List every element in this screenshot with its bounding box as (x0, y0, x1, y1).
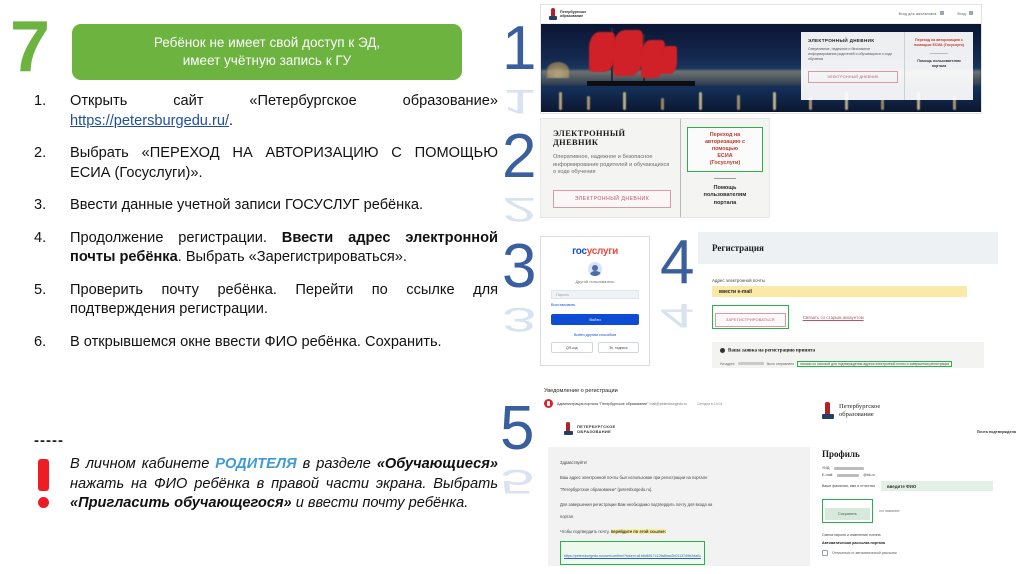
profile-email-domain: @bk.ru (863, 473, 875, 477)
login-button[interactable]: Войти (551, 314, 639, 325)
screenshot-registration: Регистрация Адрес электронной почты ввес… (698, 232, 998, 368)
gosuslugi-logo-b: услуги (587, 246, 618, 257)
title-line-2: имеет учётную запись к ГУ (154, 52, 380, 70)
logo-line-1: Петербургское (560, 10, 586, 14)
profile-email-row: E-mail:@bk.ru (822, 473, 1024, 477)
hero-banner-scarlet-sails: ЭЛЕКТРОННЫЙ ДНЕВНИК Оперативное, надежно… (541, 24, 981, 112)
email-line-3: Для завершения регистрации Вам необходим… (560, 502, 810, 508)
step-marker-6: 6. (28, 333, 70, 353)
step-text-6: В открывшемся окне ввести ФИО ребёнка. С… (70, 333, 498, 353)
screenshot-ed-block-zoom: ЭЛЕКТРОННЫЙ ДНЕВНИК Оперативное, надежно… (540, 118, 770, 218)
email-highlight: перейдите по этой ссылке: (611, 529, 666, 534)
esia-line-5: (Госуслуги) (710, 160, 740, 166)
mail-sender-row: Администрация портала "Петербургское обр… (544, 399, 830, 408)
mail-confirmed-label: Почта подтверждена (977, 430, 1016, 434)
step-marker-3: 3. (28, 196, 70, 216)
list-item: 4. Продолжение регистрации. Ввести адрес… (28, 229, 498, 268)
hero-ed-button[interactable]: ЭЛЕКТРОННЫЙ ДНЕВНИК (808, 71, 898, 83)
warning-bold-students: «Обучающиеся» (377, 456, 498, 472)
list-item: 6. В открывшемся окне ввести ФИО ребёнка… (28, 333, 498, 353)
step-4-part1: Продолжение регистрации. (70, 230, 282, 246)
list-item: 1. Открыть сайт «Петербургское образован… (28, 92, 498, 131)
step-1-after: . (229, 113, 233, 129)
portal-nav: Вход для школьников Вход (899, 11, 973, 16)
restore-password-link[interactable]: Восстановить (551, 303, 639, 307)
warning-p1: В личном кабинете (70, 456, 215, 472)
hero-card-right: Переход на авторизацию с помощью ЕСИА (Г… (905, 32, 973, 100)
rostral-column-icon (822, 402, 834, 419)
list-item: 5. Проверить почту ребёнка. Перейти по с… (28, 281, 498, 320)
screenshot-number-4: 4 (660, 234, 694, 344)
email-label: Адрес электронной почты (712, 278, 984, 283)
screenshot-gosuslugi-login: госуслуги Другой пользователь Пароль Вос… (540, 236, 650, 366)
unsubscribe-checkbox-row[interactable]: Отписаться от автоматической рассылки (822, 550, 1024, 556)
esia-line-4: ЕСИА (717, 153, 732, 159)
warning-p3: нажать на ФИО ребёнка в правой части экр… (70, 476, 498, 492)
login-qr-button[interactable]: QR-код (551, 342, 593, 353)
nav-item-login[interactable]: Вход (958, 11, 973, 16)
sender-avatar-icon (544, 399, 553, 408)
list-item: 2. Выбрать «ПЕРЕХОД НА АВТОРИЗАЦИЮ С ПОМ… (28, 144, 498, 183)
screenshot-number-2: 2 (502, 128, 536, 238)
email-body: Здравствуйте! Ваш адрес электронной почт… (548, 447, 822, 566)
ship-illustration (581, 28, 701, 90)
step-marker-1: 1. (28, 92, 70, 131)
exclamation-mark-icon (28, 455, 70, 514)
profile-logo: Петербургское образование (822, 402, 1024, 419)
change-password-link[interactable]: Смена пароля и изменение логина (822, 533, 1024, 537)
email-logo: ПЕТЕРБУРГСКОЕ ОБРАЗОВАНИЕ (564, 422, 830, 435)
step-text-5: Проверить почту ребёнка. Перейти по ссыл… (70, 281, 498, 320)
email-greeting: Здравствуйте! (560, 460, 810, 466)
ed-block-left: ЭЛЕКТРОННЫЙ ДНЕВНИК Оперативное, надежно… (541, 119, 681, 217)
mail-date: Сегодня в 13:04 (697, 402, 722, 406)
hero-card-left: ЭЛЕКТРОННЫЙ ДНЕВНИК Оперативное, надежно… (801, 32, 905, 100)
steps-list: 1. Открыть сайт «Петербургское образован… (28, 92, 498, 365)
checkbox-label: Отписаться от автоматической рассылки (832, 551, 897, 555)
warning-p2: в разделе (297, 456, 377, 472)
email-input[interactable]: ввести e-mail (712, 286, 967, 297)
email-line-4: портал. (560, 514, 810, 520)
step-marker-5: 5. (28, 281, 70, 320)
warning-bold-invite: «Пригласить обучающегося» (70, 495, 292, 511)
mail-subject: Уведомление о регистрации (540, 386, 830, 394)
registration-title: Регистрация (712, 243, 764, 253)
mail-from-email: mail@petersburgedu.ru (649, 402, 687, 406)
screenshot-number-3: 3 (502, 238, 536, 348)
hero-ed-card: ЭЛЕКТРОННЫЙ ДНЕВНИК Оперативное, надежно… (801, 32, 973, 100)
help-line-1: Помощь (713, 185, 736, 191)
step-text-2: Выбрать «ПЕРЕХОД НА АВТОРИЗАЦИЮ С ПОМОЩЬ… (70, 144, 498, 183)
step-text-4: Продолжение регистрации. Ввести адрес эл… (70, 229, 498, 268)
registration-header: Регистрация (698, 232, 998, 264)
save-note: это название (879, 509, 900, 513)
rostral-column-icon (564, 422, 573, 435)
profile-uid-row: УИД: (822, 466, 1024, 470)
hero-help-link[interactable]: Помощь пользователям портала (910, 59, 968, 69)
email-line-5: Чтобы подтвердить почту, перейдите по эт… (560, 529, 810, 535)
gosuslugi-logo: госуслуги (551, 246, 639, 257)
hero-esia-link[interactable]: Переход на авторизацию с помощью ЕСИА (Г… (910, 38, 968, 48)
email-logo-text: ПЕТЕРБУРГСКОЕ ОБРАЗОВАНИЕ (577, 424, 615, 434)
note-mid: было отправлено (767, 362, 795, 366)
confirm-registration-link[interactable]: https://petersburgedu.ru/user/confirm/?t… (564, 554, 701, 558)
accepted-note-line: На адрес было отправлено письмо со ссылк… (720, 361, 976, 367)
esia-line-1: Переход на (710, 132, 740, 138)
profile-heading: Профиль (822, 449, 1024, 459)
register-button[interactable]: ЗАРЕГИСТРИРОВАТЬСЯ (715, 313, 786, 327)
profile-fio-row: Ваши фамилия, имя и отчество введите ФИО (822, 481, 1024, 491)
accepted-heading: Ваша заявка на регистрацию принята (720, 348, 976, 354)
profile-logo-line-1: Петербургское (839, 403, 880, 410)
registration-accepted-note: Ваша заявка на регистрацию принята На ад… (712, 342, 984, 368)
warning-block: В личном кабинете РОДИТЕЛЯ в разделе «Об… (28, 455, 498, 514)
note-highlight: письмо со ссылкой для подтверждения адре… (797, 361, 952, 367)
slide-title-banner: Ребёнок не имеет свой доступ к ЭД, имеет… (72, 24, 462, 80)
checkbox[interactable] (822, 550, 828, 556)
screenshot-email-notification: Уведомление о регистрации Администрация … (540, 386, 830, 566)
esia-line-2: авторизацию с (705, 139, 745, 145)
warning-text: В личном кабинете РОДИТЕЛЯ в разделе «Об… (70, 455, 498, 514)
section-divider: ----- (34, 432, 64, 449)
confirm-link-highlight: https://petersburgedu.ru/user/confirm/?t… (560, 541, 705, 565)
slide-root: 7 Ребёнок не имеет свой доступ к ЭД, име… (0, 0, 1024, 574)
email-line-2: "Петербургское образование" (petersburge… (560, 487, 810, 493)
help-line-3: портала (714, 200, 737, 206)
step-text-3: Ввести данные учетной записи ГОСУСЛУГ ре… (70, 196, 498, 216)
nav-item-school[interactable]: Вход для школьников (899, 11, 944, 16)
ed-title: ЭЛЕКТРОННЫЙ ДНЕВНИК (553, 129, 671, 147)
register-button-highlight: ЗАРЕГИСТРИРОВАТЬСЯ (712, 305, 789, 329)
rostral-column-icon (549, 8, 557, 20)
link-old-account[interactable]: Связать со старым аккаунтом (803, 315, 864, 320)
screenshot-number-5: 5 (500, 400, 534, 510)
screenshots-panel: 1 2 3 4 5 6 Петербургское образование Вх… (500, 0, 1024, 574)
hero-card-title: ЭЛЕКТРОННЫЙ ДНЕВНИК (808, 38, 898, 43)
info-icon (720, 348, 725, 353)
title-line-1: Ребёнок не имеет свой доступ к ЭД, (154, 34, 380, 52)
logo-line-2: образование (560, 14, 583, 18)
password-field[interactable]: Пароль (551, 290, 639, 299)
petersburgedu-link[interactable]: https://petersburgedu.ru/ (70, 113, 229, 129)
login-esign-button[interactable]: Эл. подпись (598, 342, 640, 353)
portal-help-link[interactable]: Помощь пользователям портала (687, 185, 763, 207)
logo-text: Петербургское образование (560, 10, 586, 19)
esia-transition-link[interactable]: Переход на авторизацию с помощью ЕСИА (Г… (687, 127, 763, 172)
note-prefix: На адрес (720, 362, 735, 366)
save-button-highlight: Сохранить (822, 499, 873, 523)
auto-mailing-heading: Автоматическая рассылка портала (822, 541, 1024, 545)
account-name: Другой пользователь (551, 280, 639, 284)
fio-label: Ваши фамилия, имя и отчество (822, 484, 875, 488)
email-logo-line-2: ОБРАЗОВАНИЕ (577, 429, 611, 434)
step-marker-2: 2. (28, 144, 70, 183)
ed-block-right: Переход на авторизацию с помощью ЕСИА (Г… (681, 119, 769, 217)
esia-line-3: помощью (712, 146, 738, 152)
step-4-part2: . Выбрать «Зарегистрироваться». (178, 249, 407, 265)
slide-step-number: 7 (10, 16, 48, 78)
save-button[interactable]: Сохранить (825, 508, 870, 520)
ed-desc: Оперативное, надежное и безопасное инфор… (553, 154, 671, 177)
list-item: 3. Ввести данные учетной записи ГОСУСЛУГ… (28, 196, 498, 216)
portal-header: Петербургское образование Вход для школь… (541, 5, 981, 24)
hero-card-desc: Оперативное, надежное и безопасное инфор… (808, 47, 898, 62)
step-marker-4: 4. (28, 229, 70, 268)
profile-logo-text: Петербургское образование (839, 403, 880, 419)
help-line-2: пользователям (703, 192, 746, 198)
mail-from: Администрация портала "Петербургское обр… (557, 402, 687, 406)
alt-login-title: Войти другим способом (551, 333, 639, 337)
screenshot-portal-home: Петербургское образование Вход для школь… (540, 4, 982, 114)
ed-button[interactable]: ЭЛЕКТРОННЫЙ ДНЕВНИК (553, 190, 671, 208)
petersburgedu-logo: Петербургское образование (549, 8, 586, 20)
email-line-1: Ваш адрес электронной почты был использо… (560, 475, 810, 481)
screenshot-number-1: 1 (502, 20, 536, 130)
step-1-before: Открыть сайт «Петербургское образование» (70, 93, 498, 109)
warning-highlight-parent: РОДИТЕЛЯ (215, 456, 296, 472)
profile-logo-line-2: образование (839, 411, 874, 418)
warning-p4: и ввести почту ребёнка. (292, 495, 469, 511)
profile-save-row: Сохранить это название (822, 499, 1024, 523)
avatar (588, 262, 602, 276)
screenshot-profile: Петербургское образование Почта подтверж… (810, 392, 1024, 566)
fio-input[interactable]: введите ФИО (881, 481, 993, 491)
gosuslugi-logo-a: гос (572, 246, 587, 257)
instructions-panel: 7 Ребёнок не имеет свой доступ к ЭД, име… (0, 0, 500, 574)
step-text-1: Открыть сайт «Петербургское образование»… (70, 92, 498, 131)
